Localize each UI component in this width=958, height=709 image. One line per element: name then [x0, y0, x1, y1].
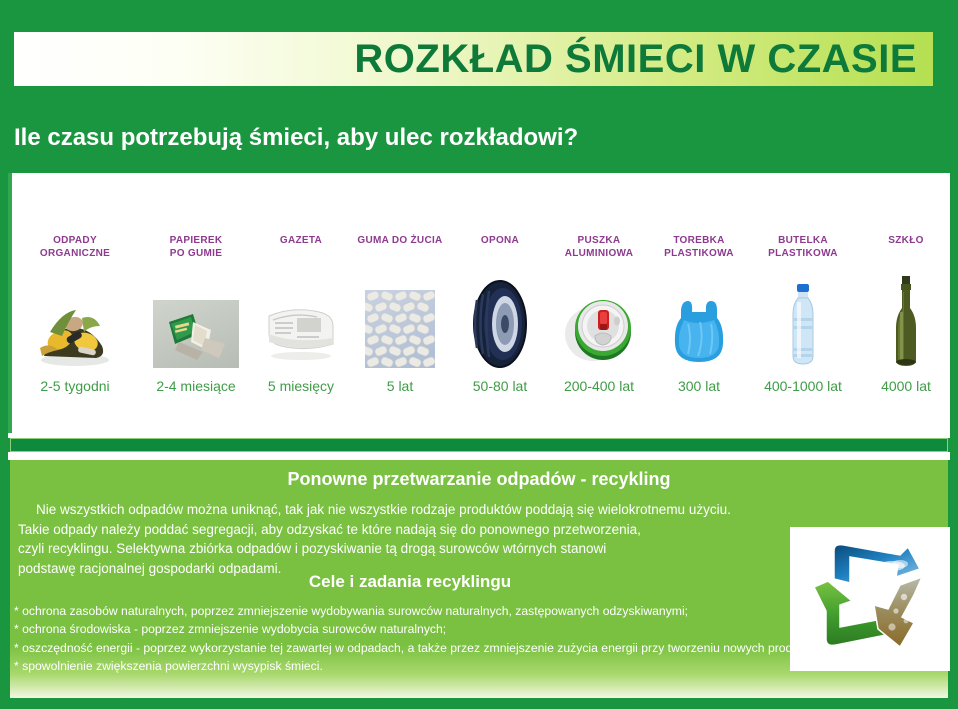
item-image — [748, 273, 858, 368]
decomposition-item-7: TOREBKAPLASTIKOWA 300 lat — [650, 173, 748, 433]
item-label-line-1: OPONA — [452, 235, 548, 248]
glass-bottle-icon — [891, 274, 921, 368]
decomposition-columns: ODPADYORGANICZNE 2-5 tygodniPAPIEREKPO G… — [12, 173, 954, 433]
decomposition-item-5: OPONA 50-80 lat — [452, 173, 548, 433]
item-image — [650, 273, 748, 368]
decomposition-item-8: BUTELKAPLASTIKOWA 400-1000 lat — [748, 173, 858, 433]
item-decomposition-time: 300 lat — [650, 378, 748, 394]
recycling-paragraph: Nie wszystkich odpadów można uniknąć, ta… — [18, 500, 818, 578]
item-decomposition-time: 2-4 miesiące — [138, 378, 254, 394]
item-label-line-2: ALUMINIOWA — [548, 248, 650, 261]
aluminium-can-icon — [559, 290, 639, 368]
item-image — [254, 273, 348, 368]
goals-title: Cele i zadania recyklingu — [10, 572, 810, 592]
title-banner: ROZKŁAD ŚMIECI W CZASIE — [14, 32, 933, 86]
item-label-line-1: GUMA DO ŻUCIA — [348, 235, 452, 248]
recycling-paragraph-line-1: Nie wszystkich odpadów można uniknąć, ta… — [18, 500, 818, 520]
recycling-paragraph-line-3: czyli recyklingu. Selektywna zbiórka odp… — [18, 539, 818, 559]
item-label: ODPADYORGANICZNE — [12, 235, 138, 260]
item-image — [138, 273, 254, 368]
item-image — [12, 273, 138, 368]
item-image — [452, 273, 548, 368]
decomposition-item-1: ODPADYORGANICZNE 2-5 tygodni — [12, 173, 138, 433]
decomposition-item-6: PUSZKAALUMINIOWA 200-400 lat — [548, 173, 650, 433]
item-label-line-2: PLASTIKOWA — [748, 248, 858, 261]
item-label-line-1: GAZETA — [254, 235, 348, 248]
item-label-line-2: PO GUMIE — [138, 248, 254, 261]
recycling-paragraph-line-2: Takie odpady należy poddać segregacji, a… — [18, 520, 818, 540]
item-label: PUSZKAALUMINIOWA — [548, 235, 650, 260]
infographic-poster: ROZKŁAD ŚMIECI W CZASIE Ile czasu potrze… — [0, 0, 958, 709]
item-image — [858, 273, 954, 368]
item-label-line-1: SZKŁO — [858, 235, 954, 248]
item-decomposition-time: 50-80 lat — [452, 378, 548, 394]
separator-gap-bottom — [8, 452, 950, 460]
newspaper-icon — [261, 298, 341, 368]
decomposition-table: ODPADYORGANICZNE 2-5 tygodniPAPIEREKPO G… — [8, 173, 950, 433]
item-decomposition-time: 400-1000 lat — [748, 378, 858, 394]
item-label: SZKŁO — [858, 235, 954, 248]
item-decomposition-time: 5 miesięcy — [254, 378, 348, 394]
decomposition-item-9: SZKŁO 4000 lat — [858, 173, 954, 433]
decomposition-item-3: GAZETA 5 miesięcy — [254, 173, 348, 433]
item-label: TOREBKAPLASTIKOWA — [650, 235, 748, 260]
page-title: ROZKŁAD ŚMIECI W CZASIE — [354, 39, 917, 79]
tire-icon — [467, 280, 533, 368]
plastic-bag-icon — [668, 296, 730, 368]
decomposition-item-4: GUMA DO ŻUCIA 5 lat — [348, 173, 452, 433]
gum-wrapper-icon — [153, 300, 239, 368]
item-decomposition-time: 200-400 lat — [548, 378, 650, 394]
item-label-line-2: PLASTIKOWA — [650, 248, 748, 261]
item-image — [348, 273, 452, 368]
recycling-triangle-icon — [804, 535, 936, 663]
chewing-gum-icon — [365, 290, 435, 368]
item-label: GUMA DO ŻUCIA — [348, 235, 452, 248]
recycling-logo-box — [790, 527, 950, 671]
item-label-line-1: BUTELKA — [748, 235, 858, 248]
organic-waste-icon — [32, 288, 118, 368]
item-image — [548, 273, 650, 368]
item-decomposition-time: 4000 lat — [858, 378, 954, 394]
item-label-line-1: PAPIEREK — [138, 235, 254, 248]
item-label-line-1: ODPADY — [12, 235, 138, 248]
item-label-line-1: TOREBKA — [650, 235, 748, 248]
item-label: OPONA — [452, 235, 548, 248]
plastic-bottle-icon — [785, 282, 821, 368]
page-subtitle: Ile czasu potrzebują śmieci, aby ulec ro… — [14, 124, 933, 152]
decomposition-item-2: PAPIEREKPO GUMIE 2-4 miesiące — [138, 173, 254, 433]
item-label-line-2: ORGANICZNE — [12, 248, 138, 261]
item-label: GAZETA — [254, 235, 348, 248]
item-decomposition-time: 2-5 tygodni — [12, 378, 138, 394]
header-band: ROZKŁAD ŚMIECI W CZASIE Ile czasu potrze… — [0, 0, 958, 175]
item-decomposition-time: 5 lat — [348, 378, 452, 394]
item-label: BUTELKAPLASTIKOWA — [748, 235, 858, 260]
section-divider-bar — [10, 438, 948, 452]
recycling-title: Ponowne przetwarzanie odpadów - recyklin… — [10, 469, 948, 490]
item-label-line-1: PUSZKA — [548, 235, 650, 248]
item-label: PAPIEREKPO GUMIE — [138, 235, 254, 260]
